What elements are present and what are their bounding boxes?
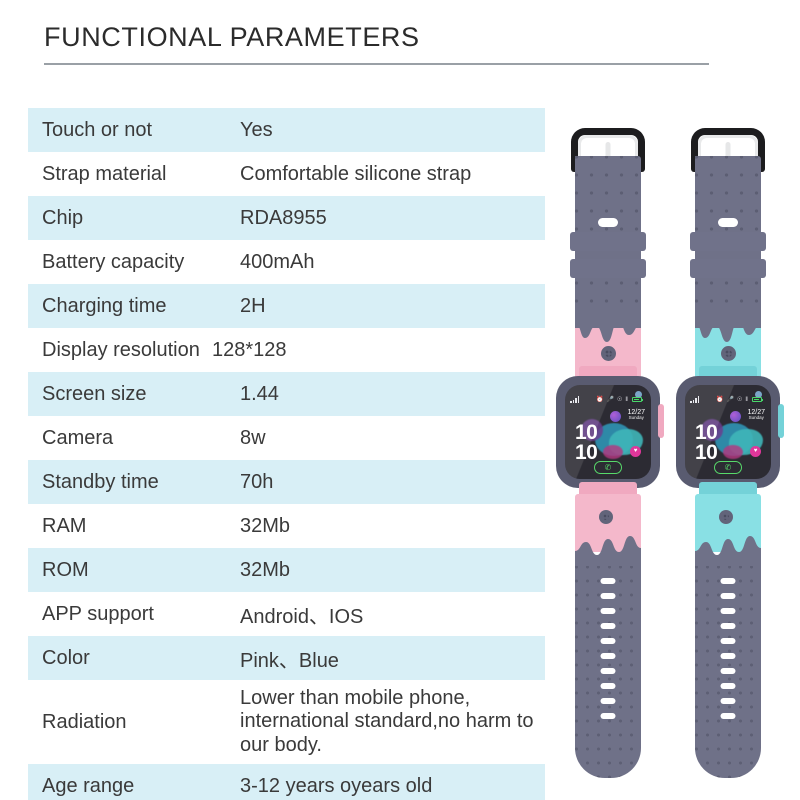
spec-label: Age range: [28, 775, 240, 798]
spec-value: 32Mb: [240, 559, 545, 582]
lower-strap: [695, 482, 761, 778]
product-image-group: ⏰ 🎤 ☉ ‖ 12/27 Sunday 10: [548, 118, 800, 778]
table-row: Radiation Lower than mobile phone, inter…: [28, 680, 545, 764]
strap-stud: [719, 510, 733, 524]
table-row: APP support Android、IOS: [28, 592, 545, 636]
spec-label: Battery capacity: [28, 251, 240, 274]
spec-value: Lower than mobile phone, international s…: [240, 687, 545, 757]
spec-value: 1.44: [240, 383, 545, 406]
table-row: Battery capacity 400mAh: [28, 240, 545, 284]
table-row: Standby time 70h: [28, 460, 545, 504]
title-divider: [44, 63, 709, 65]
spec-value: 8w: [240, 427, 545, 450]
spec-value: 128*128: [212, 339, 545, 362]
spec-value: 70h: [240, 471, 545, 494]
spec-label: Display resolution: [28, 339, 226, 362]
spec-value: RDA8955: [240, 207, 545, 230]
spec-label: Color: [28, 647, 240, 670]
spec-value: Yes: [240, 119, 545, 142]
case-side-button[interactable]: [778, 404, 784, 438]
upper-strap-drip-section: [575, 282, 641, 382]
spec-label: Camera: [28, 427, 240, 450]
drip-shape: [695, 534, 761, 570]
strap-keeper: [690, 259, 766, 278]
screen-glare: [685, 385, 771, 479]
drip-shape: [575, 534, 641, 570]
spec-label: Touch or not: [28, 119, 240, 142]
strap-slot: [718, 218, 738, 227]
table-row: Touch or not Yes: [28, 108, 545, 152]
spec-value: Comfortable silicone strap: [240, 163, 545, 186]
spec-label: Chip: [28, 207, 240, 230]
spec-value: 3-12 years oyears old: [240, 775, 545, 798]
strap-keeper: [570, 232, 646, 251]
spec-value: 2H: [240, 295, 545, 318]
table-row: Screen size 1.44: [28, 372, 545, 416]
drip-shape: [695, 316, 761, 350]
table-row: Age range 3-12 years oyears old: [28, 764, 545, 800]
page-title: FUNCTIONAL PARAMETERS: [44, 22, 644, 53]
strap-holes: [721, 578, 736, 719]
spec-value: Android、IOS: [240, 600, 545, 629]
watch-screen[interactable]: ⏰ 🎤 ☉ ‖ 12/27 Sunday 10: [565, 385, 651, 479]
table-row: RAM 32Mb: [28, 504, 545, 548]
spec-label: RAM: [28, 515, 240, 538]
upper-strap-drip-section: [695, 282, 761, 382]
watch-crown-button[interactable]: [721, 346, 736, 361]
spec-label: Charging time: [28, 295, 240, 318]
watch-crown-button[interactable]: [601, 346, 616, 361]
watch-case: ⏰ 🎤 ☉ ‖ 12/27 Sunday 10: [556, 376, 660, 488]
product-spec-page: FUNCTIONAL PARAMETERS Touch or not Yes S…: [0, 0, 800, 800]
table-row: Camera 8w: [28, 416, 545, 460]
spec-label: Screen size: [28, 383, 240, 406]
spec-value: Pink、Blue: [240, 644, 545, 673]
watch-screen[interactable]: ⏰ 🎤 ☉ ‖ 12/27 Sunday 10: [685, 385, 771, 479]
spec-label: Standby time: [28, 471, 240, 494]
spec-label: Strap material: [28, 163, 240, 186]
table-row: Charging time 2H: [28, 284, 545, 328]
table-row: Chip RDA8955: [28, 196, 545, 240]
spec-label: APP support: [28, 603, 240, 626]
spec-label: ROM: [28, 559, 240, 582]
strap-slot: [598, 218, 618, 227]
spec-value: 400mAh: [240, 251, 545, 274]
table-row: Strap material Comfortable silicone stra…: [28, 152, 545, 196]
screen-glare: [565, 385, 651, 479]
title-block: FUNCTIONAL PARAMETERS: [44, 22, 644, 65]
drip-shape: [575, 316, 641, 350]
pink-kids-smartwatch-image: ⏰ 🎤 ☉ ‖ 12/27 Sunday 10: [550, 118, 666, 778]
case-side-button[interactable]: [658, 404, 664, 438]
lower-strap: [575, 482, 641, 778]
spec-label: Radiation: [28, 711, 240, 734]
table-row: Display resolution 128*128: [28, 328, 545, 372]
blue-kids-smartwatch-image: ⏰ 🎤 ☉ ‖ 12/27 Sunday 10: [670, 118, 786, 778]
strap-keeper: [570, 259, 646, 278]
strap-keeper: [690, 232, 766, 251]
table-row: Color Pink、Blue: [28, 636, 545, 680]
strap-holes: [601, 578, 616, 719]
specification-table: Touch or not Yes Strap material Comforta…: [28, 108, 545, 800]
table-row: ROM 32Mb: [28, 548, 545, 592]
strap-stud: [599, 510, 613, 524]
spec-value: 32Mb: [240, 515, 545, 538]
watch-case: ⏰ 🎤 ☉ ‖ 12/27 Sunday 10: [676, 376, 780, 488]
